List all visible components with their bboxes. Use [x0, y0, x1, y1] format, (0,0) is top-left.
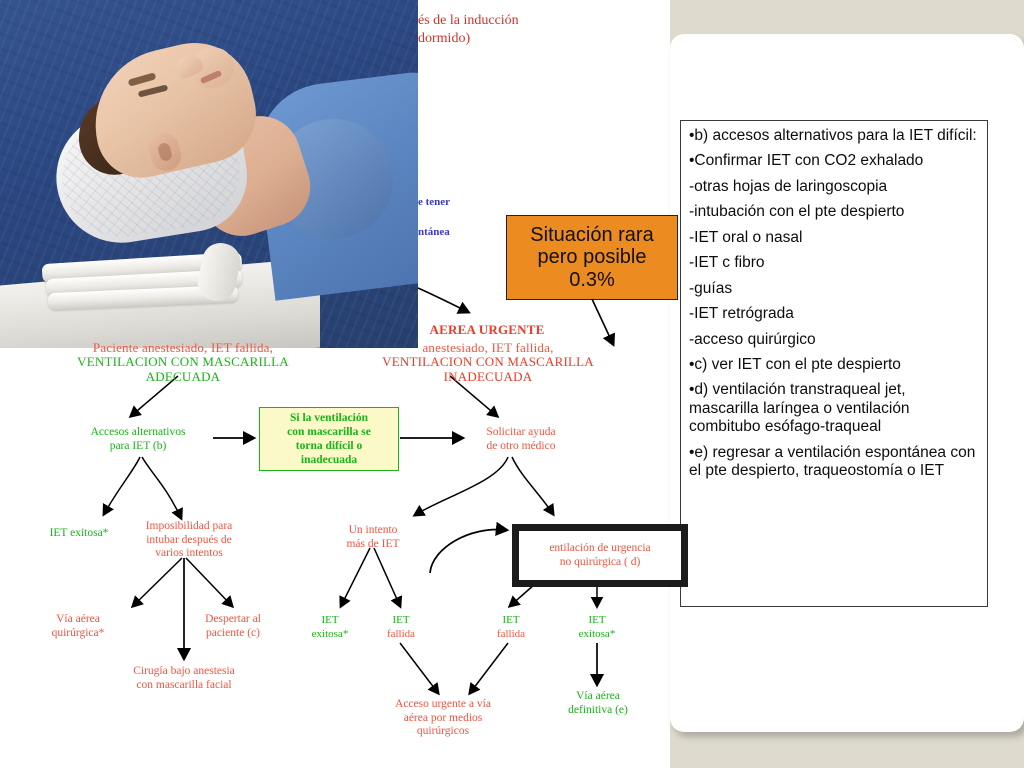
node-iet-exitosa-left: IET exitosa*: [24, 527, 134, 541]
node-via-aerea-definitiva: Vía aérea definitiva (e): [540, 690, 656, 717]
node-iet-1-label: IET: [292, 614, 368, 627]
callout-line-3: 0.3%: [530, 269, 653, 291]
node-iet-4-label: IET: [560, 614, 634, 627]
node-ventilacion-urgencia-text: entilación de urgencia no quirúrgica ( d…: [549, 542, 650, 569]
node-acceso-urgente-quirurgico: Acceso urgente a vía aérea por medios qu…: [362, 698, 524, 739]
node-via-aerea-quirurgica: Vía aérea quirúrgica*: [24, 613, 132, 640]
note-item-b: •b) accesos alternativos para la IET dif…: [689, 127, 979, 145]
header-ventilacion-adecuada: VENTILACION CON MASCARILLA ADECUADA: [48, 354, 318, 385]
node-iet-2-label: IET: [368, 614, 434, 627]
header-ventilacion-inadecuada: VENTILACION CON MASCARILLA INADECUADA: [352, 354, 624, 385]
note-item-retrograda: -IET retrógrada: [689, 305, 979, 323]
node-ventilacion-dificil-text: Si la ventilación con mascarilla se torn…: [287, 411, 371, 467]
header-via-aerea-urgente: AEREA URGENTE: [392, 322, 582, 337]
node-iet-3-status: fallida: [478, 628, 544, 641]
top-heading-red-line1: és de la inducción: [418, 12, 668, 31]
node-iet-1-status: exitosa*: [292, 628, 368, 641]
difficult-airway-algorithm: AEREA URGENTE Paciente anestesiado, IET …: [0, 318, 670, 768]
node-iet-3-label: IET: [478, 614, 544, 627]
node-accesos-alternativos: Accesos alternativos para IET (b): [62, 426, 214, 453]
node-un-intento-mas: Un intento más de IET: [325, 524, 421, 551]
callout-rare-situation: Situación rara pero posible 0.3%: [506, 215, 678, 300]
top-heading-red-line2: dormido): [418, 30, 668, 49]
node-ventilacion-dificil-box: Si la ventilación con mascarilla se torn…: [259, 407, 399, 471]
notes-text-box: •b) accesos alternativos para la IET dif…: [680, 120, 988, 607]
callout-line-2: pero posible: [530, 246, 653, 268]
node-solicitar-ayuda: Solicitar ayuda de otro médico: [462, 426, 580, 453]
note-item-guias: -guías: [689, 280, 979, 298]
node-iet-4-status: exitosa*: [560, 628, 634, 641]
note-item-hojas: -otras hojas de laringoscopia: [689, 178, 979, 196]
node-ventilacion-urgencia-box: entilación de urgencia no quirúrgica ( d…: [512, 524, 688, 587]
note-item-intubacion-despierto: -intubación con el pte despierto: [689, 203, 979, 221]
node-iet-2-status: fallida: [368, 628, 434, 641]
clinical-photo-sniffing-position: [0, 0, 418, 348]
note-item-c: •c) ver IET con el pte despierto: [689, 356, 979, 374]
node-imposibilidad-intubar: Imposibilidad para intubar después de va…: [128, 520, 250, 561]
node-despertar-paciente: Despertar al paciente (c): [178, 613, 288, 640]
note-item-oral-nasal: -IET oral o nasal: [689, 229, 979, 247]
node-cirugia-mascarilla-facial: Cirugía bajo anestesia con mascarilla fa…: [78, 665, 290, 692]
note-item-acceso-quirurgico: -acceso quirúrgico: [689, 331, 979, 349]
note-item-e: •e) regresar a ventilación espontánea co…: [689, 444, 979, 481]
callout-line-1: Situación rara: [530, 224, 653, 246]
top-heading-blue-line1: e tener: [418, 196, 450, 208]
note-item-fibro: -IET c fibro: [689, 254, 979, 272]
note-item-confirmar: •Confirmar IET con CO2 exhalado: [689, 152, 979, 170]
top-heading-blue-line2: ntánea: [418, 226, 450, 238]
note-item-d: •d) ventilación transtraqueal jet, masca…: [689, 381, 979, 436]
